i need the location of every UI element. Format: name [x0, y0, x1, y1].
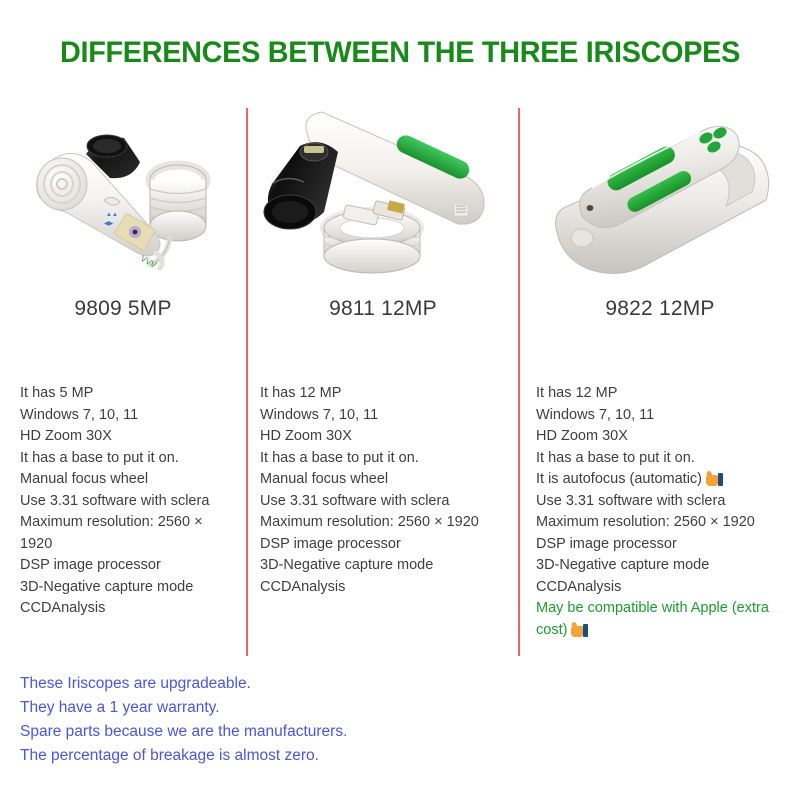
product-image-9809: ▲▲ ◀▶ ᐯᐯᐯ [0, 108, 246, 283]
spec-item: Use 3.31 software with sclera [536, 491, 794, 513]
usb-cable-coil [324, 200, 420, 273]
spec-item: Manual focus wheel [260, 469, 510, 491]
spec-item: HD Zoom 30X [536, 426, 794, 448]
spec-item: Maximum resolution: 2560 × 1920 [20, 512, 216, 555]
svg-text:ᐯᐯᐯ: ᐯᐯᐯ [139, 254, 158, 270]
spec-item: It has a base to put it on. [260, 448, 510, 470]
spec-item: Windows 7, 10, 11 [536, 405, 794, 427]
spec-item: It has 12 MP [536, 383, 794, 405]
footer-notes: These Iriscopes are upgradeable. They ha… [20, 672, 520, 768]
spec-list-9811: It has 12 MP Windows 7, 10, 11 HD Zoom 3… [260, 383, 510, 598]
spec-item: CCDAnalysis [260, 577, 510, 599]
thumbs-up-icon [571, 622, 590, 637]
spec-item: 3D-Negative capture mode [536, 555, 794, 577]
spec-item: HD Zoom 30X [20, 426, 216, 448]
autofocus-label: It is autofocus (automatic) [536, 471, 702, 487]
spec-item: It has 12 MP [260, 383, 510, 405]
product-caption-9809: 9809 5MP [0, 297, 246, 321]
product-caption-9822: 9822 12MP [520, 297, 800, 321]
svg-text:▲▲: ▲▲ [106, 212, 118, 218]
spec-item: 3D-Negative capture mode [20, 577, 216, 599]
spec-item: Use 3.31 software with sclera [260, 491, 510, 513]
spec-item: DSP image processor [536, 534, 794, 556]
page-title: DIFFERENCES BETWEEN THE THREE IRISCOPES [16, 36, 784, 70]
spec-item: It has a base to put it on. [536, 448, 794, 470]
spec-item: Windows 7, 10, 11 [260, 405, 510, 427]
product-column-9822: 9822 12MP It has 12 MP Windows 7, 10, 11… [520, 108, 800, 641]
spec-item: HD Zoom 30X [260, 426, 510, 448]
spec-item: It has 5 MP [20, 383, 216, 405]
footer-note: The percentage of breakage is almost zer… [20, 744, 520, 768]
lens-barrel [264, 142, 338, 229]
spec-item: Use 3.31 software with sclera [20, 491, 216, 513]
spec-item: 3D-Negative capture mode [260, 555, 510, 577]
spec-list-9809: It has 5 MP Windows 7, 10, 11 HD Zoom 30… [20, 383, 216, 620]
product-column-9809: ▲▲ ◀▶ ᐯᐯᐯ 9809 5MP It has 5 MP Windows 7… [0, 108, 246, 620]
product-column-9811: 9811 12MP It has 12 MP Windows 7, 10, 11… [248, 108, 518, 598]
product-image-9811 [248, 108, 518, 283]
product-image-9822 [520, 108, 800, 283]
svg-text:◀▶: ◀▶ [104, 221, 114, 227]
footer-note: Spare parts because we are the manufactu… [20, 720, 520, 744]
spec-item: Maximum resolution: 2560 × 1920 [260, 512, 510, 534]
handheld-body: ▲▲ ◀▶ ᐯᐯᐯ [37, 135, 163, 270]
spec-item: Manual focus wheel [20, 469, 216, 491]
spec-list-9822: It has 12 MP Windows 7, 10, 11 HD Zoom 3… [536, 383, 794, 641]
iriscope-9809-illustration: ▲▲ ◀▶ ᐯᐯᐯ [0, 108, 246, 283]
iriscope-9811-illustration [248, 108, 518, 283]
spec-item: CCDAnalysis [536, 577, 794, 599]
footer-note: These Iriscopes are upgradeable. [20, 672, 520, 696]
apple-compat-note: May be compatible with Apple (extra cost… [536, 598, 794, 641]
spec-item: It has a base to put it on. [20, 448, 216, 470]
spec-item: CCDAnalysis [20, 598, 216, 620]
spec-item: DSP image processor [260, 534, 510, 556]
iriscope-9822-illustration [520, 108, 800, 283]
spec-item: DSP image processor [20, 555, 216, 577]
thumbs-up-icon [706, 471, 725, 486]
spec-item: Maximum resolution: 2560 × 1920 [536, 512, 794, 534]
spec-item: Windows 7, 10, 11 [20, 405, 216, 427]
spec-item-autofocus: It is autofocus (automatic) [536, 469, 794, 491]
footer-note: They have a 1 year warranty. [20, 696, 520, 720]
product-caption-9811: 9811 12MP [248, 297, 518, 321]
